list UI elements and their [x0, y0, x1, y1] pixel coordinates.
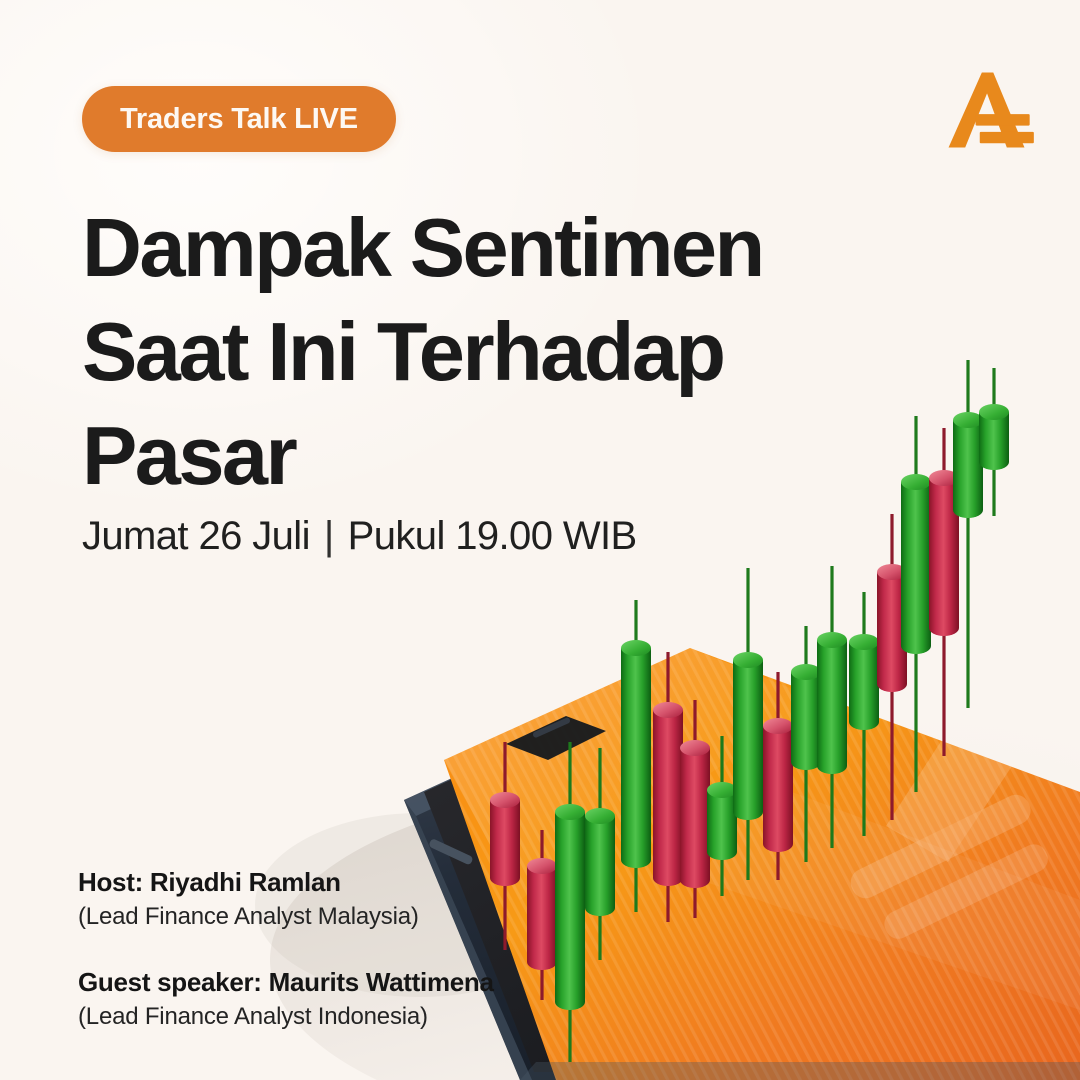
- candle-cap: [817, 632, 847, 648]
- candle-base: [733, 804, 763, 820]
- candle-cap: [929, 470, 959, 486]
- candle-base: [979, 454, 1009, 470]
- candle-cap: [527, 858, 557, 874]
- guest-role: (Lead Finance Analyst Indonesia): [78, 1000, 494, 1034]
- candle-body: [527, 866, 557, 962]
- event-date: Jumat 26 Juli: [82, 514, 310, 559]
- candle-cap: [953, 412, 983, 428]
- candle-cap: [707, 782, 737, 798]
- host-role: (Lead Finance Analyst Malaysia): [78, 900, 494, 934]
- candle-body: [707, 790, 737, 852]
- candlestick-bullish: [707, 736, 737, 896]
- octa-a-logo-icon: [934, 58, 1038, 162]
- candlestick-bearish: [653, 652, 683, 922]
- candle-cap: [653, 702, 683, 718]
- event-time: Pukul 19.00 WIB: [348, 514, 637, 559]
- candle-body: [817, 640, 847, 766]
- candle-base: [490, 870, 520, 886]
- candle-cap: [585, 808, 615, 824]
- candle-cap: [901, 474, 931, 490]
- candlestick-bullish: [733, 568, 763, 880]
- candle-base: [877, 676, 907, 692]
- screen-watermark-a: [846, 712, 1052, 943]
- candle-body: [901, 482, 931, 646]
- candle-base: [585, 900, 615, 916]
- candlestick-bullish: [849, 592, 879, 836]
- live-badge-label: Traders Talk LIVE: [120, 103, 358, 136]
- candle-base: [621, 852, 651, 868]
- candle-body: [555, 812, 585, 1002]
- candlestick-bullish: [585, 748, 615, 960]
- phone-device: [404, 620, 1080, 1080]
- candle-body: [585, 816, 615, 908]
- candlestick-bearish: [680, 700, 710, 918]
- datetime-separator: |: [324, 514, 334, 559]
- candle-cap: [490, 792, 520, 808]
- live-badge[interactable]: Traders Talk LIVE: [82, 86, 396, 152]
- candlestick-bearish: [763, 672, 793, 880]
- candlestick-bearish: [490, 742, 520, 950]
- candle-cap: [763, 718, 793, 734]
- candle-base: [953, 502, 983, 518]
- host-name: Host: Riyadhi Ramlan: [78, 864, 494, 900]
- candlestick-bullish: [953, 360, 983, 708]
- candlestick-bullish: [621, 600, 651, 912]
- headline-line-1: Dampak Sentimen: [82, 196, 842, 300]
- candlestick-bearish: [929, 428, 959, 756]
- candle-cap: [555, 804, 585, 820]
- guest-name: Guest speaker: Maurits Wattimena: [78, 964, 494, 1000]
- headline-line-3: Pasar: [82, 404, 842, 508]
- candle-cap: [621, 640, 651, 656]
- candle-body: [621, 648, 651, 860]
- candle-body: [953, 420, 983, 510]
- candle-cap: [680, 740, 710, 756]
- host-block: Host: Riyadhi Ramlan (Lead Finance Analy…: [78, 864, 494, 934]
- candle-base: [680, 872, 710, 888]
- candle-base: [707, 844, 737, 860]
- candlestick-bearish: [527, 830, 557, 1000]
- candle-base: [763, 836, 793, 852]
- candle-base: [555, 994, 585, 1010]
- candle-body: [680, 748, 710, 880]
- candle-base: [901, 638, 931, 654]
- event-datetime: Jumat 26 Juli | Pukul 19.00 WIB: [82, 514, 637, 559]
- candle-base: [849, 714, 879, 730]
- candlestick-bullish: [979, 368, 1009, 516]
- candle-base: [817, 758, 847, 774]
- poster-canvas: Traders Talk LIVE Dampak Sentimen Saat I…: [0, 0, 1080, 1080]
- candle-body: [763, 726, 793, 844]
- candle-base: [527, 954, 557, 970]
- candlestick-bearish: [877, 514, 907, 820]
- headline-line-2: Saat Ini Terhadap: [82, 300, 842, 404]
- candle-body: [733, 660, 763, 812]
- candle-body: [877, 572, 907, 684]
- candle-cap: [791, 664, 821, 680]
- candlestick-bullish: [555, 742, 585, 1062]
- page-title: Dampak Sentimen Saat Ini Terhadap Pasar: [82, 196, 842, 508]
- candle-body: [791, 672, 821, 762]
- candle-body: [490, 800, 520, 878]
- candle-cap: [979, 404, 1009, 420]
- candle-body: [653, 710, 683, 878]
- candle-body: [929, 478, 959, 628]
- candle-base: [791, 754, 821, 770]
- candle-body: [979, 412, 1009, 462]
- candle-cap: [733, 652, 763, 668]
- candle-body: [849, 642, 879, 722]
- candle-cap: [849, 634, 879, 650]
- candle-base: [929, 620, 959, 636]
- speaker-list: Host: Riyadhi Ramlan (Lead Finance Analy…: [78, 864, 494, 1034]
- guest-block: Guest speaker: Maurits Wattimena (Lead F…: [78, 964, 494, 1034]
- candle-base: [653, 870, 683, 886]
- candlestick-bullish: [901, 416, 931, 792]
- candle-cap: [877, 564, 907, 580]
- candlestick-bullish: [791, 626, 821, 862]
- candlestick-bullish: [817, 566, 847, 848]
